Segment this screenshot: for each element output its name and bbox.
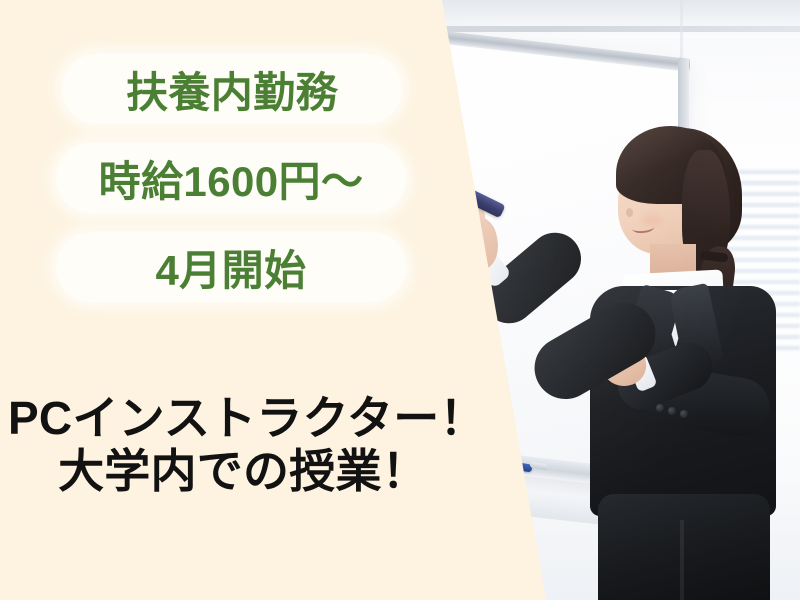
suit-trousers — [598, 494, 770, 600]
headline-line-2: 大学内での授業！ — [0, 445, 512, 498]
trouser-seam — [680, 520, 684, 600]
badge-label: 4月開始 — [155, 237, 306, 298]
headline-line-1: PCインストラクター！ — [0, 392, 512, 445]
job-ad-banner: 扶養内勤務 時給1600円〜 4月開始 PCインストラクター！ 大学内での授業！ — [0, 0, 800, 600]
sleeve-button — [656, 404, 664, 412]
sleeve-button — [680, 410, 688, 418]
badge-hourly-wage: 時給1600円〜 — [56, 143, 406, 213]
badge-label: 時給1600円〜 — [99, 148, 364, 209]
headline-block: PCインストラクター！ 大学内での授業！ — [0, 392, 512, 498]
badge-start-date: 4月開始 — [56, 232, 406, 302]
sleeve-button — [668, 407, 676, 415]
nose — [626, 208, 633, 217]
badge-label: 扶養内勤務 — [126, 59, 338, 120]
badge-employment-type: 扶養内勤務 — [62, 54, 402, 124]
